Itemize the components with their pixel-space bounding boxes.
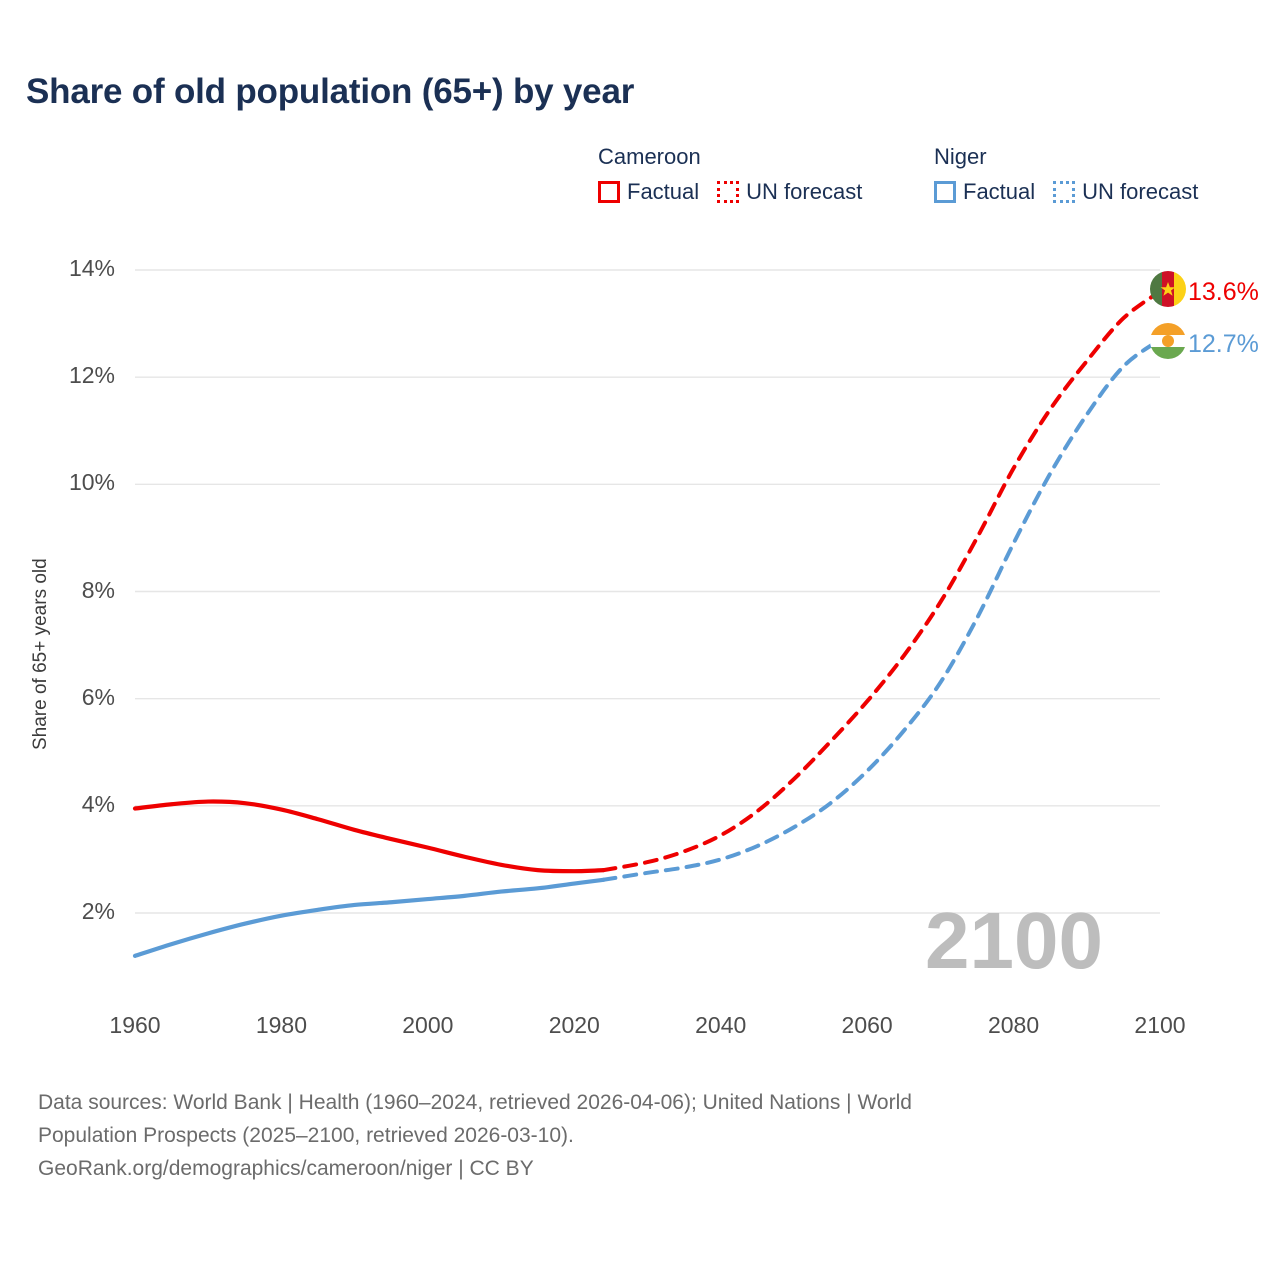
x-tick-label: 1980 [236,1012,326,1039]
x-tick-label: 2000 [383,1012,473,1039]
y-tick-label: 10% [53,469,115,496]
year-watermark: 2100 [925,895,1103,987]
y-tick-label: 6% [53,684,115,711]
series-line-cameroon-forecast [604,291,1160,870]
x-tick-label: 2040 [676,1012,766,1039]
x-tick-label: 2060 [822,1012,912,1039]
plot-area: Share of 65+ years old 2%4%6%8%10%12%14%… [0,0,1280,1060]
x-tick-label: 2080 [969,1012,1059,1039]
cameroon-flag-icon [1150,271,1186,307]
series-line-niger-factual [135,880,604,956]
series-line-niger-forecast [604,340,1160,880]
footer-line-2: Population Prospects (2025–2100, retriev… [38,1119,1168,1152]
footer-sources: Data sources: World Bank | Health (1960–… [38,1086,1168,1185]
x-tick-label: 2100 [1115,1012,1205,1039]
x-tick-label: 2020 [529,1012,619,1039]
y-axis-title: Share of 65+ years old [30,722,52,750]
gridlines [135,270,1160,913]
series-lines [135,291,1160,955]
footer-line-3[interactable]: GeoRank.org/demographics/cameroon/niger … [38,1152,1168,1185]
y-tick-label: 4% [53,791,115,818]
y-tick-label: 2% [53,898,115,925]
y-tick-label: 8% [53,577,115,604]
end-label-cameroon: 13.6% [1188,278,1259,307]
end-label-niger: 12.7% [1188,330,1259,359]
series-line-cameroon-factual [135,802,604,872]
niger-flag-icon [1150,323,1186,359]
y-tick-label: 14% [53,255,115,282]
footer-line-1: Data sources: World Bank | Health (1960–… [38,1086,1168,1119]
y-tick-label: 12% [53,362,115,389]
x-tick-label: 1960 [90,1012,180,1039]
chart-page: Share of old population (65+) by year Ca… [0,0,1280,1280]
